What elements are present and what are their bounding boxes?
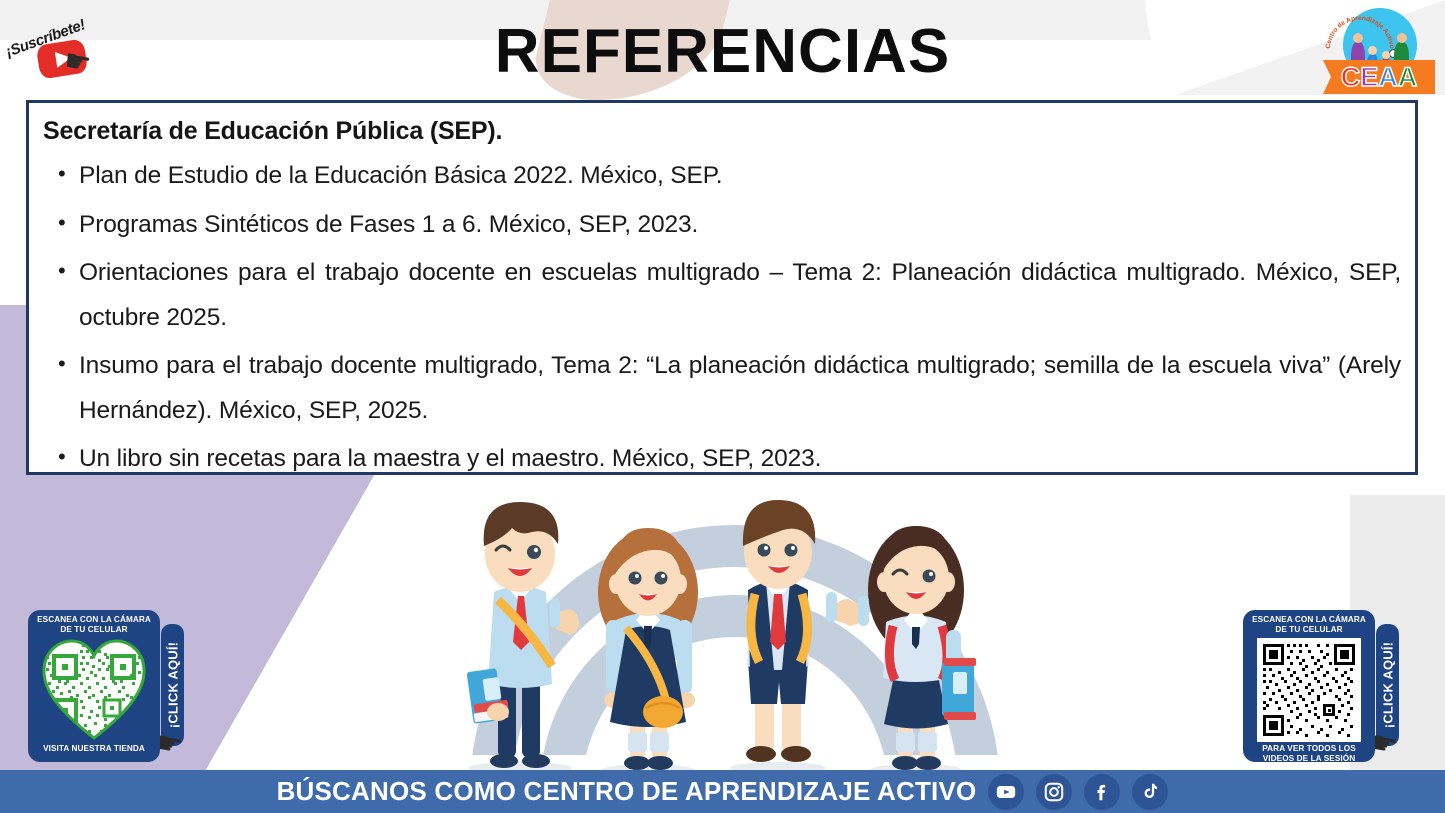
youtube-icon[interactable] <box>988 774 1024 810</box>
student-4 <box>841 526 976 775</box>
four-students-illustration <box>430 480 1030 775</box>
logo-letter-1: C <box>1341 64 1361 91</box>
logo-letter-2: E <box>1360 64 1378 91</box>
qr-panel-videos[interactable]: ¡CLICK AQUÍ! ☛ ESCANEA CON LA CÁMARA DE … <box>1243 610 1418 770</box>
list-item: Un libro sin recetas para la maestra y e… <box>79 437 1401 482</box>
click-here-label: ¡CLICK AQUÍ! <box>165 642 180 728</box>
page-title: REFERENCIAS <box>0 16 1445 87</box>
qr-footer-left: VISITA NUESTRA TIENDA <box>32 744 156 754</box>
click-here-label: ¡CLICK AQUÍ! <box>1380 642 1395 728</box>
square-qr-code[interactable] <box>1257 638 1361 742</box>
qr-card-right[interactable]: ESCANEA CON LA CÁMARA DE TU CELULAR <box>1243 610 1375 762</box>
facebook-icon[interactable] <box>1084 774 1120 810</box>
list-item: Orientaciones para el trabajo docente en… <box>79 251 1401 340</box>
heart-qr-code[interactable] <box>42 638 146 742</box>
student-2 <box>598 528 698 775</box>
slide-canvas: ¡Suscríbete! ☛ REFERENCIAS Centro de Apr… <box>0 0 1445 813</box>
qr-card-left[interactable]: ESCANEA CON LA CÁMARA DE TU CELULAR <box>28 610 160 762</box>
footer-text: BÚSCANOS COMO CENTRO DE APRENDIZAJE ACTI… <box>277 776 977 807</box>
student-1 <box>467 502 579 774</box>
qr-footer-right: PARA VER TODOS LOS VIDEOS DE LA SESIÓN <box>1247 744 1371 764</box>
ceaa-logo: Centro de Aprendizaje Activo C E A A <box>1323 8 1435 96</box>
references-list: Plan de Estudio de la Educación Básica 2… <box>29 154 1415 482</box>
qr-header-right: ESCANEA CON LA CÁMARA DE TU CELULAR <box>1247 615 1371 635</box>
qr-panel-store[interactable]: ¡CLICK AQUÍ! ☛ ESCANEA CON LA CÁMARA DE … <box>28 610 203 770</box>
references-box: Secretaría de Educación Pública (SEP). P… <box>26 100 1418 475</box>
list-item: Programas Sintéticos de Fases 1 a 6. Méx… <box>79 203 1401 248</box>
instagram-icon[interactable] <box>1036 774 1072 810</box>
tiktok-icon[interactable] <box>1132 774 1168 810</box>
svg-text:Centro de Aprendizaje Activo: Centro de Aprendizaje Activo <box>1325 15 1395 49</box>
logo-banner: C E A A <box>1323 60 1435 94</box>
qr-header-left: ESCANEA CON LA CÁMARA DE TU CELULAR <box>32 615 156 635</box>
footer-bar: BÚSCANOS COMO CENTRO DE APRENDIZAJE ACTI… <box>0 770 1445 813</box>
logo-letter-4: A <box>1398 64 1418 91</box>
student-3 <box>730 500 856 774</box>
list-item: Insumo para el trabajo docente multigrad… <box>79 344 1401 433</box>
list-item: Plan de Estudio de la Educación Básica 2… <box>79 154 1401 199</box>
references-heading: Secretaría de Educación Pública (SEP). <box>29 103 1415 150</box>
logo-arc-text-label: Centro de Aprendizaje Activo <box>1325 15 1395 49</box>
logo-letter-3: A <box>1378 64 1398 91</box>
